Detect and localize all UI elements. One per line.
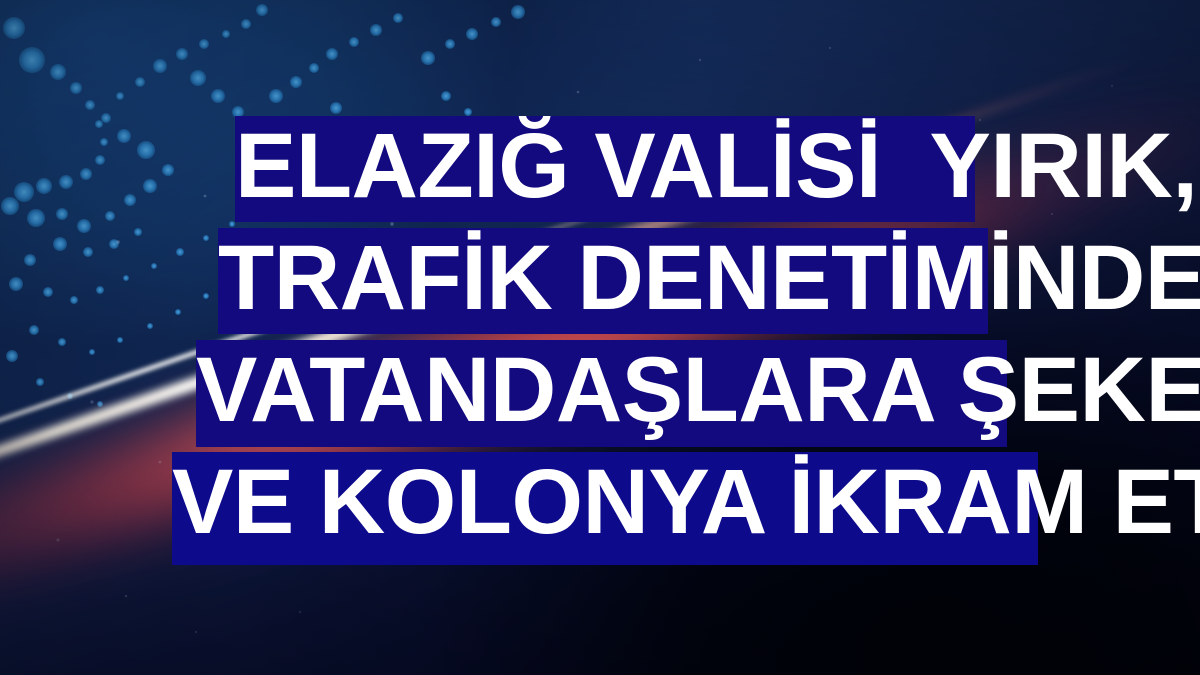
headline-line-3-text: VATANDAŞLARA ŞEKER: [196, 344, 1009, 436]
headline-card: ELAZIĞ VALİSİ YIRIK, TRAFİK DENETİMİNDE …: [0, 0, 1200, 675]
headline-line-4-text: VE KOLONYA İKRAM ETTİ: [172, 456, 1040, 548]
headline-line-2: TRAFİK DENETİMİNDE: [218, 232, 990, 324]
headline: ELAZIĞ VALİSİ YIRIK, TRAFİK DENETİMİNDE …: [0, 0, 1200, 675]
headline-line-4: VE KOLONYA İKRAM ETTİ: [172, 456, 1040, 548]
headline-line-1-text: ELAZIĞ VALİSİ YIRIK,: [235, 120, 977, 212]
headline-line-3: VATANDAŞLARA ŞEKER: [196, 344, 1009, 436]
headline-line-1: ELAZIĞ VALİSİ YIRIK,: [235, 120, 977, 212]
headline-line-2-text: TRAFİK DENETİMİNDE: [218, 232, 990, 324]
